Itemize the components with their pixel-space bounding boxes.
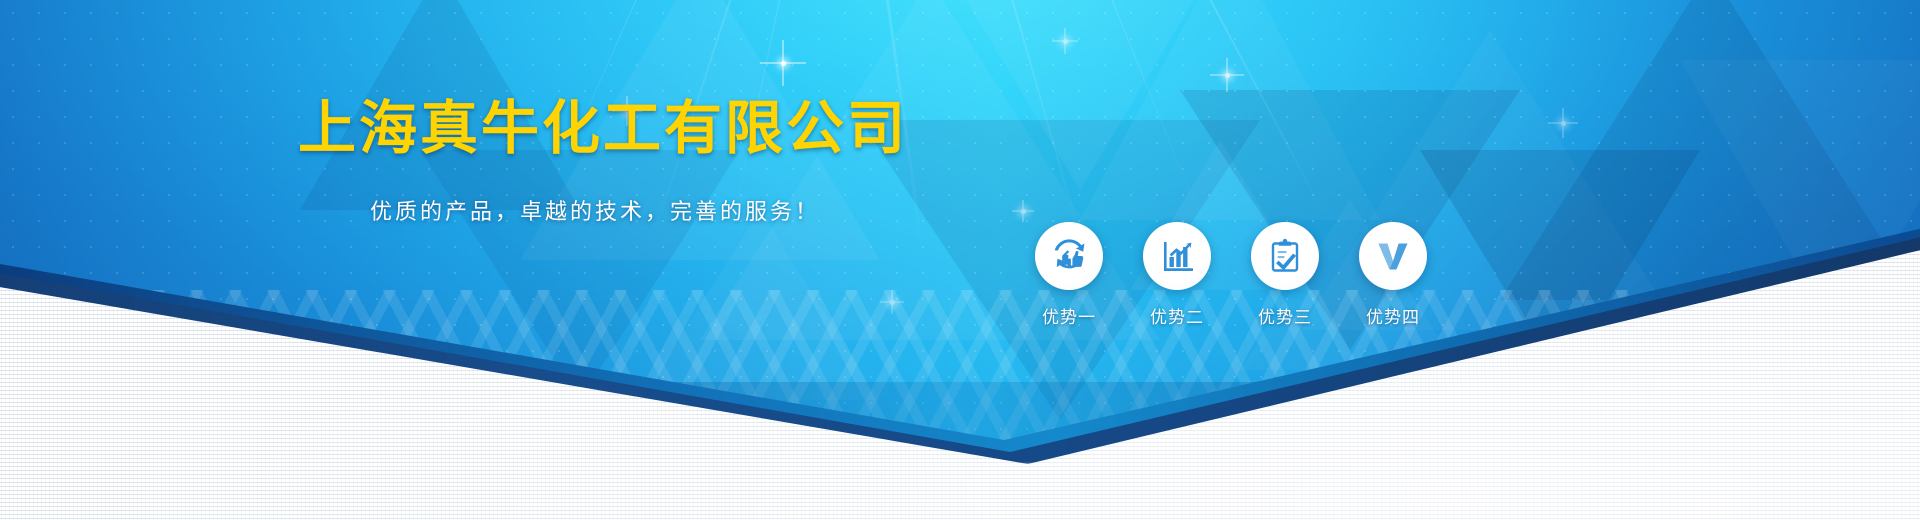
- feature-item-1[interactable]: 优势一: [1035, 222, 1103, 328]
- banner-content: 上海真牛化工有限公司 优质的产品，卓越的技术，完善的服务！ 优势一: [0, 0, 1920, 520]
- feature-icon-circle: [1251, 222, 1319, 290]
- company-slogan: 优质的产品，卓越的技术，完善的服务！: [370, 196, 820, 228]
- company-title: 上海真牛化工有限公司: [298, 94, 908, 164]
- bar-chart-growth-icon: [1157, 236, 1197, 276]
- feature-label: 优势一: [1042, 303, 1096, 328]
- hero-banner: 上海真牛化工有限公司 优质的产品，卓越的技术，完善的服务！ 优势一: [0, 0, 1920, 520]
- clipboard-check-icon: [1265, 236, 1305, 276]
- v-checkmark-icon: [1373, 236, 1413, 276]
- feature-label: 优势三: [1258, 303, 1312, 328]
- feature-label: 优势二: [1150, 303, 1204, 328]
- feature-icon-circle: [1035, 222, 1103, 290]
- feature-icon-circle: [1143, 222, 1211, 290]
- feature-label: 优势四: [1366, 303, 1420, 328]
- feature-icon-circle: [1359, 222, 1427, 290]
- feature-list: 优势一 优势二: [1035, 222, 1427, 328]
- feature-item-2[interactable]: 优势二: [1143, 222, 1211, 328]
- feature-item-3[interactable]: 优势三: [1251, 222, 1319, 328]
- feature-item-4[interactable]: 优势四: [1359, 222, 1427, 328]
- refresh-thumbsup-icon: [1049, 236, 1089, 276]
